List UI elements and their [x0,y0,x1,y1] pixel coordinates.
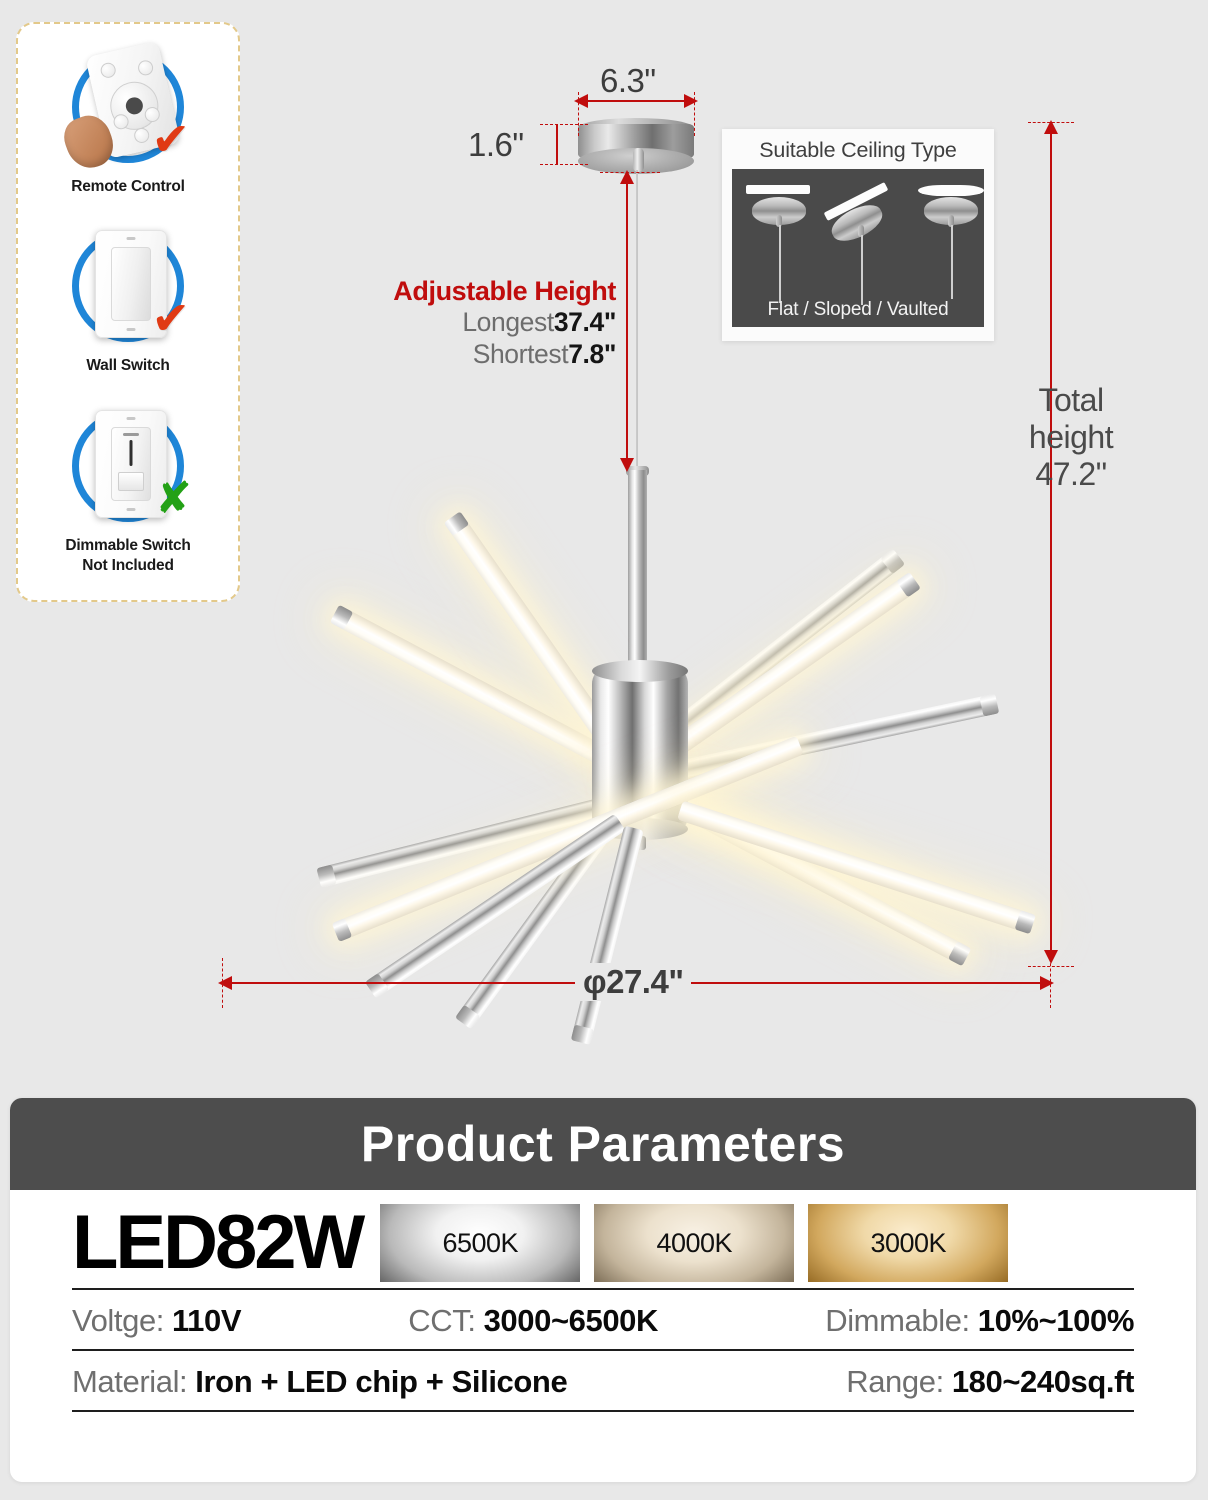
canopy-height-label: 1.6" [468,126,524,164]
ceiling-surface [918,185,984,196]
longest-value: 37.4" [554,307,616,337]
longest-row: Longest37.4" [330,307,616,339]
shortest-label: Shortest [473,339,569,369]
plate-screw [127,237,136,240]
suitable-ceiling-type-panel: Suitable Ceiling Type Flat / Sloped [722,129,994,341]
vaulted-ceiling-mount [916,183,992,307]
color-temperature-swatches: 6500K 4000K 3000K [380,1204,1008,1282]
arrow-up-icon [620,170,634,184]
remote-button [133,126,151,144]
arm-tip [896,572,921,598]
rocker-switch [111,247,151,321]
adjustable-height-block: Adjustable Height Longest37.4" Shortest7… [330,276,616,371]
shortest-row: Shortest7.8" [330,339,616,371]
spec-key: Dimmable: [825,1303,970,1339]
dimmer-switch-icon: ✘ [48,399,208,533]
adjustable-height-title: Adjustable Height [330,276,616,307]
extension-line-bottom [540,164,588,165]
arm-tip [365,973,389,999]
hub-top-cap [592,660,688,682]
spec-value: 180~240sq.ft [952,1364,1134,1400]
adjustable-height-line [626,178,628,468]
feature-label: Wall Switch [86,356,169,376]
arrow-right-icon [1040,976,1054,990]
remote-button [137,59,155,77]
product-parameters-panel: Product Parameters LED82W 6500K 4000K 30… [10,1098,1196,1482]
feature-wall-switch: ✔ Wall Switch [18,219,238,376]
ceiling-panel-title: Suitable Ceiling Type [722,129,994,169]
canopy-nipple [633,148,644,172]
shortest-value: 7.8" [568,339,616,369]
remote-control-icon: ✔ [48,40,208,174]
dimmer-tick [123,433,139,436]
arm-tip [948,941,972,966]
arrow-up-icon [1044,120,1058,134]
downrod [628,470,647,670]
suspension-wire [951,225,953,299]
total-height-block: Total height 47.2" [986,382,1156,493]
spec-row-1: Voltge: 110V CCT: 3000~6500K Dimmable: 1… [72,1290,1134,1351]
arm-tip [330,605,354,630]
extension-line-top [540,124,588,125]
spec-value: 10%~100% [978,1303,1134,1339]
arrow-left-icon [218,976,232,990]
width-dimension-line [584,100,688,102]
height-dimension-line [556,124,558,164]
color-temp-swatch-3000k: 3000K [808,1204,1008,1282]
diameter-label: φ27.4" [575,963,691,1001]
feature-label-line1: Dimmable Switch [65,536,190,556]
feature-label: Dimmable Switch Not Included [65,536,190,575]
spec-key: Material: [72,1364,187,1400]
product-parameters-body: LED82W 6500K 4000K 3000K Voltge: 110 [10,1190,1196,1412]
spec-value: 110V [172,1303,241,1339]
longest-label: Longest [462,307,554,337]
spec-key: CCT: [408,1303,475,1339]
extension-line-total-bottom [1028,966,1074,967]
ceiling-surface [746,185,810,194]
product-infographic: ✔ Remote Control ✔ Wall Switch [0,0,1208,1500]
page-title: Product Parameters [361,1115,845,1173]
dimmer-slider [111,427,151,501]
canopy-width-label: 6.3" [600,62,656,100]
flat-ceiling-mount [744,185,816,305]
ceiling-canopy [578,118,694,174]
spec-range: Range: 180~240sq.ft [846,1364,1134,1400]
wattage-row: LED82W 6500K 4000K 3000K [72,1204,1134,1290]
arrow-right-icon [684,94,698,108]
suspension-wire [861,235,863,305]
sloped-ceiling-mount [824,187,908,307]
arm-tip [571,1024,594,1044]
color-temp-label: 4000K [656,1228,732,1259]
check-icon: ✔ [151,295,190,341]
wattage-value: LED82W [72,1205,362,1281]
arrow-down-icon [620,458,634,472]
cross-icon: ✘ [155,477,192,521]
arm-tip [880,548,905,574]
arm-tip [332,918,352,942]
arm-tip [444,511,470,536]
feature-dimmable-switch: ✘ Dimmable Switch Not Included [18,399,238,575]
total-height-value: 47.2" [986,456,1156,493]
spec-key: Range: [846,1364,944,1400]
plate-screw [127,417,136,420]
arm-tip [316,865,336,888]
feature-remote-control: ✔ Remote Control [18,40,238,197]
total-height-line2: height [986,419,1156,456]
spec-dimmable: Dimmable: 10%~100% [825,1303,1134,1339]
feature-label-line2: Not Included [65,556,190,576]
arrow-down-icon [1044,950,1058,964]
total-height-line [1050,130,1052,958]
arrow-left-icon [574,94,588,108]
feature-label: Remote Control [71,177,184,197]
ceiling-caption: Flat / Sloped / Vaulted [732,299,984,321]
control-options-card: ✔ Remote Control ✔ Wall Switch [16,22,240,602]
suspension-wire [779,225,781,303]
spec-value: Iron + LED chip + Silicone [195,1364,567,1400]
ceiling-illustrations: Flat / Sloped / Vaulted [732,169,984,327]
spec-key: Voltge: [72,1303,164,1339]
spec-value: 3000~6500K [484,1303,658,1339]
color-temp-swatch-6500k: 6500K [380,1204,580,1282]
color-temp-swatch-4000k: 4000K [594,1204,794,1282]
spec-material: Material: Iron + LED chip + Silicone [72,1364,567,1400]
check-icon: ✔ [151,116,190,162]
plate-screw [127,328,136,331]
arm-tip [1015,910,1036,934]
product-parameters-header: Product Parameters [10,1098,1196,1190]
wall-switch-icon: ✔ [48,219,208,353]
spec-voltage: Voltge: 110V [72,1303,241,1339]
chandelier-arm-lit-front [677,800,1035,933]
arm-tip [979,694,999,717]
color-temp-label: 3000K [870,1228,946,1259]
total-height-line1: Total [986,382,1156,419]
arm-tip [455,1005,481,1030]
color-temp-label: 6500K [442,1228,518,1259]
spec-row-2: Material: Iron + LED chip + Silicone Ran… [72,1351,1134,1412]
plate-screw [127,508,136,511]
spec-cct: CCT: 3000~6500K [408,1303,658,1339]
remote-button [99,61,117,79]
suspension-wire [636,170,638,472]
